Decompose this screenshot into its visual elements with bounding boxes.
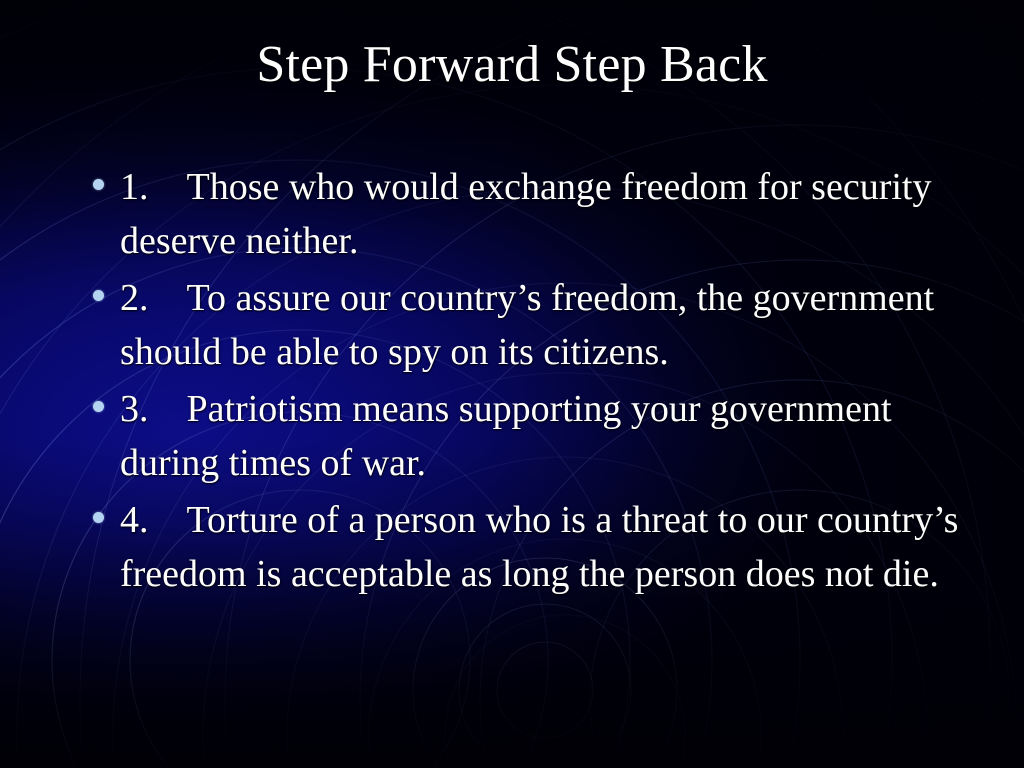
bullet-dot-icon <box>93 401 104 412</box>
bullet-item-text: 4. Torture of a person who is a threat t… <box>120 493 978 601</box>
list-item: 3. Patriotism means supporting your gove… <box>78 382 978 490</box>
list-item: 1. Those who would exchange freedom for … <box>78 160 978 268</box>
list-item: 2. To assure our country’s freedom, the … <box>78 271 978 379</box>
bullet-dot-icon <box>93 512 104 523</box>
list-item: 4. Torture of a person who is a threat t… <box>78 493 978 601</box>
presentation-slide: Step Forward Step Back 1. Those who woul… <box>0 0 1024 768</box>
bullet-item-text: 3. Patriotism means supporting your gove… <box>120 382 978 490</box>
slide-body-bullet-list: 1. Those who would exchange freedom for … <box>78 160 978 604</box>
bullet-item-text: 2. To assure our country’s freedom, the … <box>120 271 978 379</box>
bullet-dot-icon <box>93 179 104 190</box>
bullet-item-text: 1. Those who would exchange freedom for … <box>120 160 978 268</box>
slide-title: Step Forward Step Back <box>0 34 1024 96</box>
bullet-dot-icon <box>93 290 104 301</box>
